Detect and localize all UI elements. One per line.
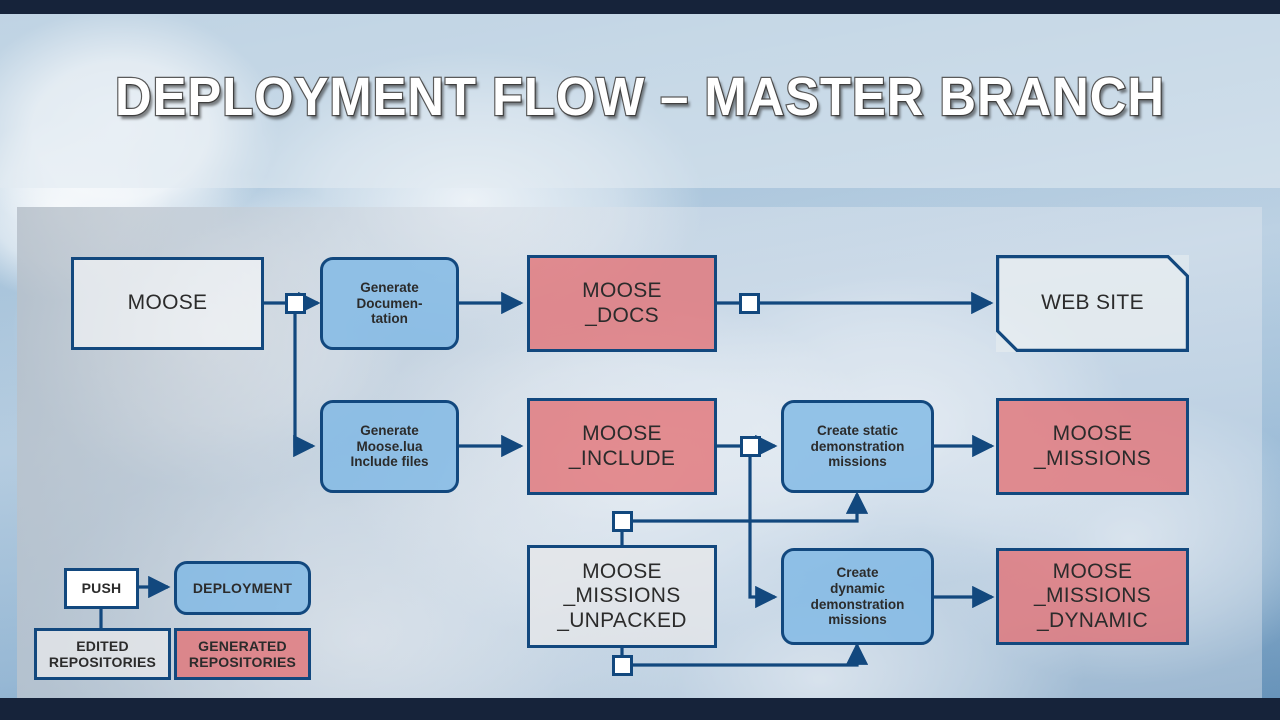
- node-generate-include[interactable]: Generate Moose.lua Include files: [320, 400, 459, 493]
- junction-node-unpacked-static[interactable]: [612, 511, 633, 532]
- legend-push-label: PUSH: [82, 580, 122, 596]
- node-create-dynamic-missions-label: Create dynamic demonstration missions: [811, 565, 905, 628]
- junction-node-moose-split[interactable]: [285, 293, 306, 314]
- page-title: DEPLOYMENT FLOW – MASTER BRANCH: [38, 66, 1241, 128]
- legend-deployment[interactable]: DEPLOYMENT: [174, 561, 311, 615]
- legend-deployment-label: DEPLOYMENT: [193, 580, 292, 596]
- node-generate-include-label: Generate Moose.lua Include files: [350, 423, 428, 470]
- legend-generated-repositories-label: GENERATED REPOSITORIES: [189, 638, 296, 671]
- node-create-static-missions[interactable]: Create static demonstration missions: [781, 400, 934, 493]
- node-moose-missions-dynamic[interactable]: MOOSE _MISSIONS _DYNAMIC: [996, 548, 1189, 645]
- top-accent-band: [0, 0, 1280, 14]
- legend-generated-repositories[interactable]: GENERATED REPOSITORIES: [174, 628, 311, 680]
- node-web-site-label: WEB SITE: [1041, 291, 1144, 316]
- node-moose-include[interactable]: MOOSE _INCLUDE: [527, 398, 717, 495]
- node-web-site[interactable]: WEB SITE: [996, 255, 1189, 352]
- node-moose-docs[interactable]: MOOSE _DOCS: [527, 255, 717, 352]
- bottom-accent-band: [0, 698, 1280, 720]
- node-moose-missions-dynamic-label: MOOSE _MISSIONS _DYNAMIC: [1034, 560, 1151, 634]
- node-moose-label: MOOSE: [128, 291, 208, 316]
- node-create-dynamic-missions[interactable]: Create dynamic demonstration missions: [781, 548, 934, 645]
- junction-node-unpacked-dynamic[interactable]: [612, 655, 633, 676]
- legend-edited-repositories[interactable]: EDITED REPOSITORIES: [34, 628, 171, 680]
- legend-push[interactable]: PUSH: [64, 568, 139, 609]
- node-generate-documentation-label: Generate Documen- tation: [356, 280, 422, 327]
- junction-node-include-split[interactable]: [740, 436, 761, 457]
- node-moose-missions-unpacked-label: MOOSE _MISSIONS _UNPACKED: [557, 560, 687, 634]
- junction-node-docs-out[interactable]: [739, 293, 760, 314]
- node-moose-missions-unpacked[interactable]: MOOSE _MISSIONS _UNPACKED: [527, 545, 717, 648]
- slide-canvas: DEPLOYMENT FLOW – MASTER BRANCH: [0, 0, 1280, 720]
- node-moose-missions-label: MOOSE _MISSIONS: [1034, 422, 1151, 471]
- node-moose-docs-label: MOOSE _DOCS: [582, 279, 662, 328]
- node-generate-documentation[interactable]: Generate Documen- tation: [320, 257, 459, 350]
- node-moose-missions[interactable]: MOOSE _MISSIONS: [996, 398, 1189, 495]
- node-moose[interactable]: MOOSE: [71, 257, 264, 350]
- node-create-static-missions-label: Create static demonstration missions: [811, 423, 905, 470]
- legend-edited-repositories-label: EDITED REPOSITORIES: [49, 638, 156, 671]
- node-moose-include-label: MOOSE _INCLUDE: [569, 422, 675, 471]
